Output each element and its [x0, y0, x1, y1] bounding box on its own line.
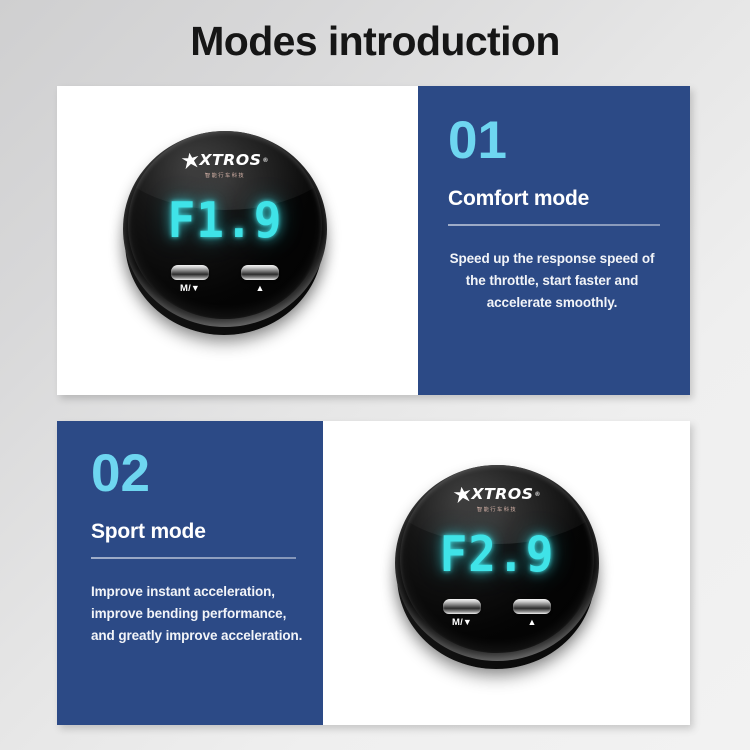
step-number-comfort: 01: [448, 114, 660, 167]
brand-subtitle: 智能行车科技: [400, 508, 594, 513]
brand-name: XTROS: [200, 153, 262, 169]
text-pane-comfort: 01 Comfort mode Speed up the response sp…: [418, 86, 690, 395]
star-icon: [453, 486, 472, 504]
device-brand-logo: XTROS ® 智能行车科技: [400, 486, 594, 513]
mode-label-text: M/: [180, 283, 191, 294]
page-title: Modes introduction: [0, 17, 750, 66]
mode-up-button-label: ▲: [239, 284, 281, 294]
mode-down-button-cap[interactable]: [171, 265, 209, 280]
led-display-value: F2.9: [400, 525, 594, 582]
star-icon: [181, 152, 200, 170]
device-face: XTROS ® 智能行车科技 F2.9 M/▼ ▲: [400, 465, 594, 653]
text-pane-sport: 02 Sport mode Improve instant accelerati…: [57, 421, 323, 725]
divider-sport: [91, 557, 296, 559]
mode-down-button-label: M/▼: [169, 284, 211, 294]
mode-down-button-label: M/▼: [441, 618, 483, 628]
device-button-group: M/▼ ▲: [128, 265, 322, 294]
step-description-comfort: Speed up the response speed of the throt…: [448, 248, 656, 314]
throttle-controller-device-sport: XTROS ® 智能行车科技 F2.9 M/▼ ▲: [395, 465, 599, 669]
mode-up-button-label: ▲: [511, 618, 553, 628]
step-title-comfort: Comfort mode: [448, 187, 660, 211]
step-number-sport: 02: [91, 447, 297, 500]
brand-name: XTROS: [472, 487, 534, 503]
mode-up-button-cap[interactable]: [513, 599, 551, 614]
registered-trademark-icon: ®: [263, 158, 267, 164]
triangle-down-icon: ▼: [191, 283, 200, 293]
brand-logo-row: XTROS ®: [454, 486, 539, 503]
mode-label-text: M/: [452, 617, 463, 628]
mode-up-button[interactable]: ▲: [239, 265, 281, 294]
modes-introduction-page: Modes introduction XTROS ® 智能行车科技: [0, 0, 750, 750]
mode-down-button[interactable]: M/▼: [169, 265, 211, 294]
brand-subtitle: 智能行车科技: [128, 174, 322, 179]
mode-up-button-cap[interactable]: [241, 265, 279, 280]
brand-logo-row: XTROS ®: [182, 152, 267, 169]
mode-down-button-cap[interactable]: [443, 599, 481, 614]
divider-comfort: [448, 224, 660, 226]
device-image-pane-comfort: XTROS ® 智能行车科技 F1.9 M/▼ ▲: [57, 86, 418, 395]
device-brand-logo: XTROS ® 智能行车科技: [128, 152, 322, 179]
panel-sport-mode: 02 Sport mode Improve instant accelerati…: [57, 421, 690, 725]
triangle-up-icon: ▲: [255, 283, 264, 293]
registered-trademark-icon: ®: [535, 492, 539, 498]
device-button-group: M/▼ ▲: [400, 599, 594, 628]
mode-down-button[interactable]: M/▼: [441, 599, 483, 628]
throttle-controller-device-comfort: XTROS ® 智能行车科技 F1.9 M/▼ ▲: [123, 131, 327, 335]
panel-comfort-mode: XTROS ® 智能行车科技 F1.9 M/▼ ▲: [57, 86, 690, 395]
step-description-sport: Improve instant acceleration, improve be…: [91, 581, 307, 647]
led-display-value: F1.9: [128, 191, 322, 248]
triangle-up-icon: ▲: [527, 617, 536, 627]
device-image-pane-sport: XTROS ® 智能行车科技 F2.9 M/▼ ▲: [323, 421, 690, 725]
device-face: XTROS ® 智能行车科技 F1.9 M/▼ ▲: [128, 131, 322, 319]
triangle-down-icon: ▼: [463, 617, 472, 627]
step-title-sport: Sport mode: [91, 520, 297, 544]
mode-up-button[interactable]: ▲: [511, 599, 553, 628]
